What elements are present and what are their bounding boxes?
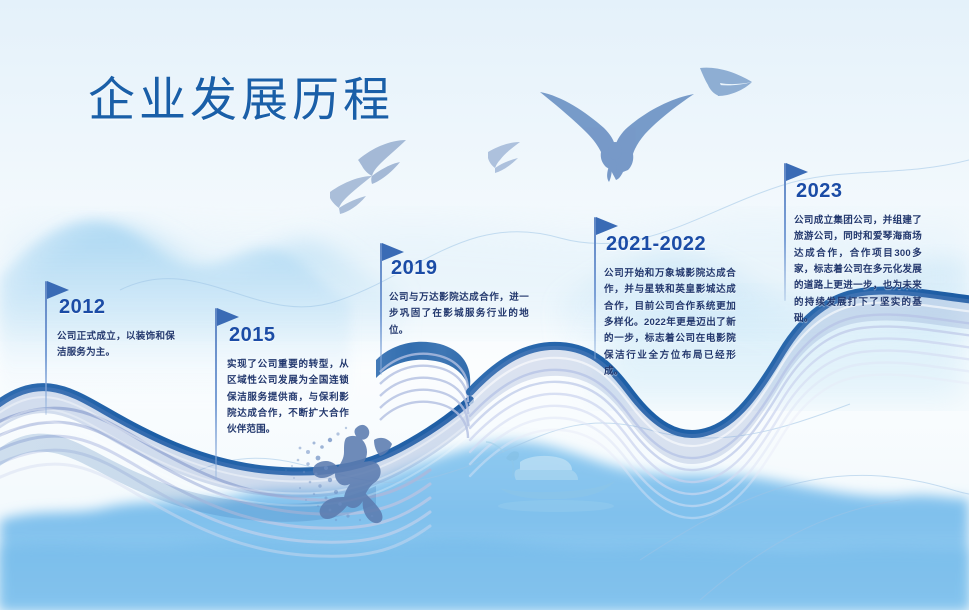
milestone-year: 2012 [59, 296, 175, 318]
timeline-poster: 企业发展历程 2012 公司正式成立，以装饰和保洁服务为主。 2015 实现了公… [0, 0, 969, 610]
milestone-year: 2015 [229, 324, 349, 346]
flag-pole [380, 243, 382, 375]
milestone-description: 公司成立集团公司，并组建了旅游公司，同时和爱琴海商场达成合作，合作项目300多家… [794, 213, 922, 327]
flag-pennant-icon [786, 163, 808, 181]
milestone-description: 公司与万达影院达成合作，进一步巩固了在影城服务行业的地位。 [389, 290, 529, 339]
flag-pole [784, 163, 786, 301]
milestone-2019[interactable]: 2019 公司与万达影院达成合作，进一步巩固了在影城服务行业的地位。 [389, 257, 529, 339]
milestone-description: 公司正式成立，以装饰和保洁服务为主。 [57, 329, 175, 362]
flag-pole [594, 217, 596, 359]
milestone-2023[interactable]: 2023 公司成立集团公司，并组建了旅游公司，同时和爱琴海商场达成合作，合作项目… [794, 180, 922, 327]
milestone-year: 2023 [796, 180, 922, 202]
milestone-2021-2022[interactable]: 2021-2022 公司开始和万象城影院达成合作，并与星轶和英皇影城达成合作，目… [604, 233, 736, 380]
milestone-year: 2019 [391, 257, 529, 279]
milestone-2015[interactable]: 2015 实现了公司重要的转型，从区域性公司发展为全国连锁保洁服务提供商，与保利… [227, 324, 349, 439]
page-title: 企业发展历程 [88, 61, 394, 130]
flag-pole [45, 281, 47, 415]
milestone-2012[interactable]: 2012 公司正式成立，以装饰和保洁服务为主。 [57, 296, 175, 362]
milestone-description: 公司开始和万象城影院达成合作，并与星轶和英皇影城达成合作，目前公司合作系统更加多… [604, 266, 736, 380]
milestone-description: 实现了公司重要的转型，从区域性公司发展为全国连锁保洁服务提供商，与保利影院达成合… [227, 357, 349, 439]
milestone-year: 2021-2022 [606, 233, 736, 255]
flag-pole [215, 308, 217, 480]
